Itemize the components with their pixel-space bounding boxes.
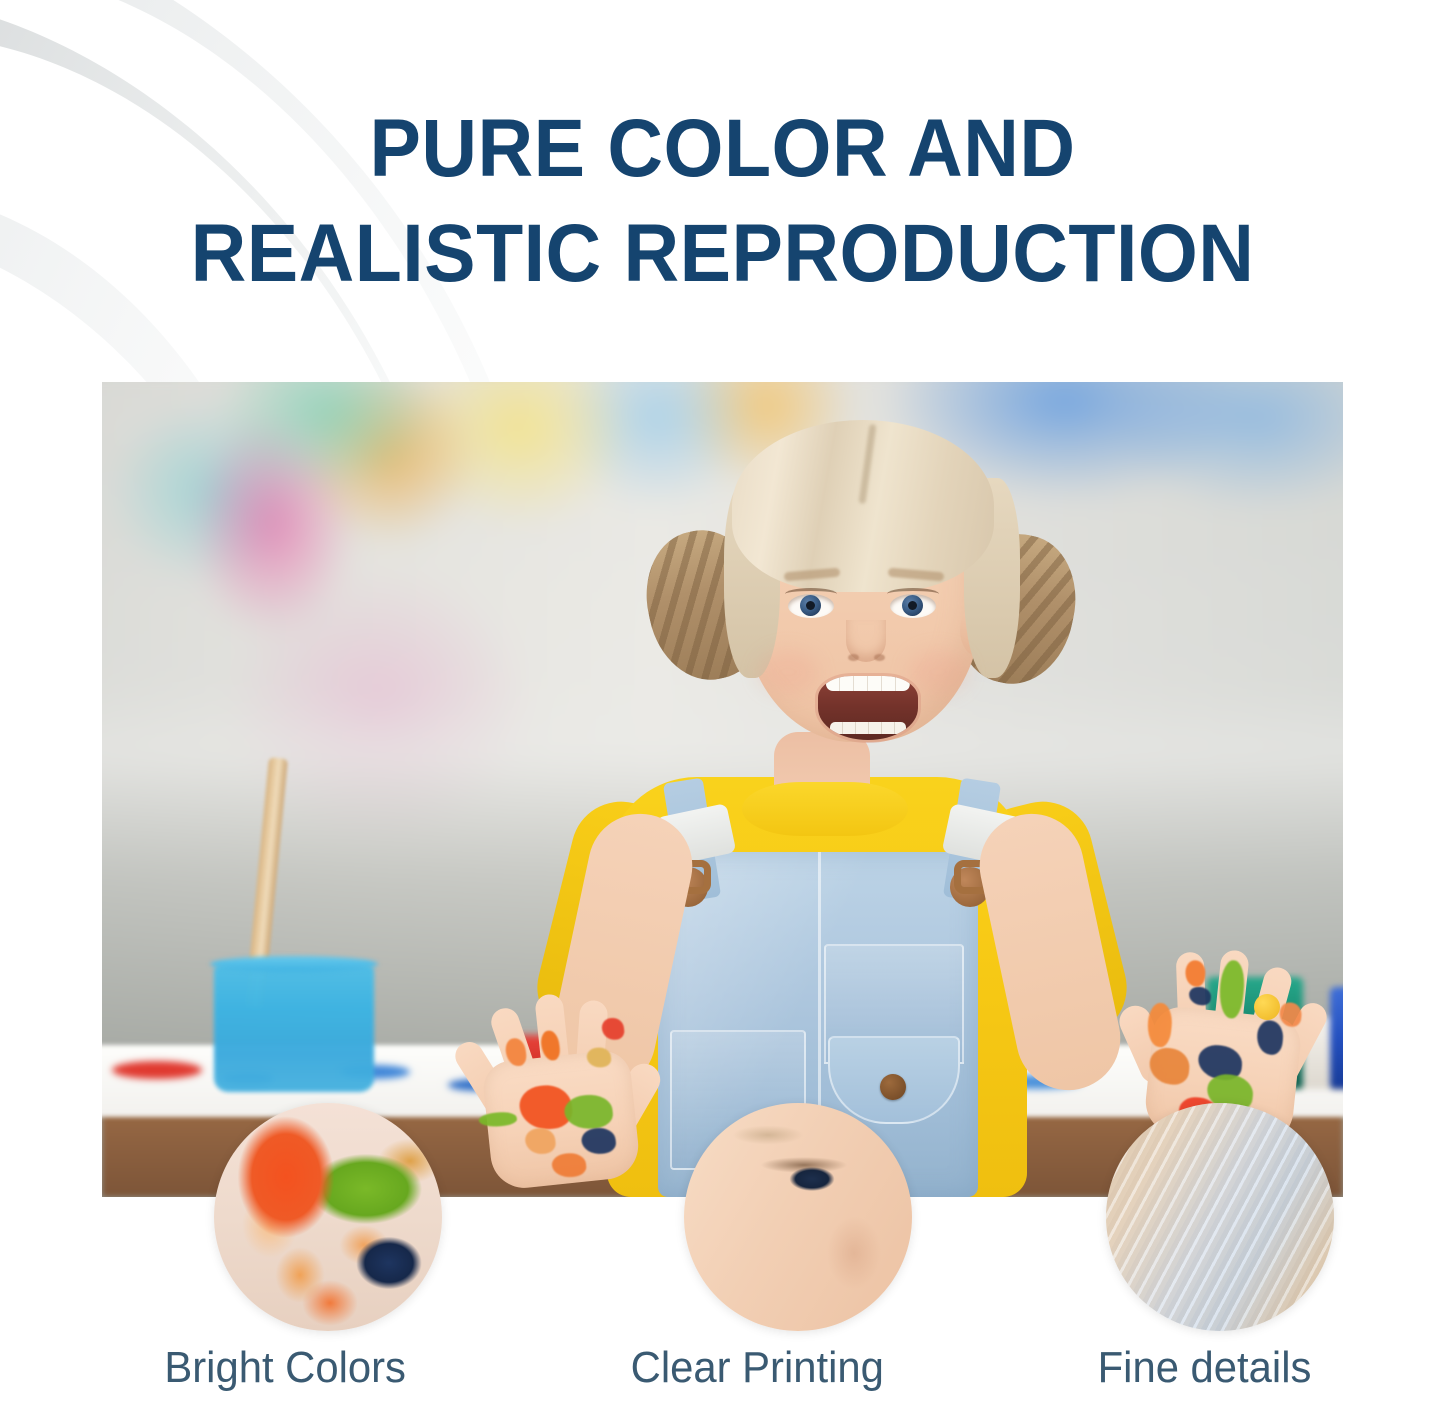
caption-clear-printing: Clear Printing: [631, 1340, 884, 1396]
callout-circle-bright-colors: [214, 1103, 442, 1331]
callout-circles-group: [0, 0, 1445, 1409]
callout-circle-clear-printing: [684, 1103, 912, 1331]
caption-bright-colors: Bright Colors: [164, 1340, 406, 1396]
product-feature-banner: PURE COLOR AND REALISTIC REPRODUCTION: [0, 0, 1445, 1409]
caption-fine-details: Fine details: [1098, 1340, 1312, 1396]
callout-circle-fine-details: [1106, 1103, 1334, 1331]
